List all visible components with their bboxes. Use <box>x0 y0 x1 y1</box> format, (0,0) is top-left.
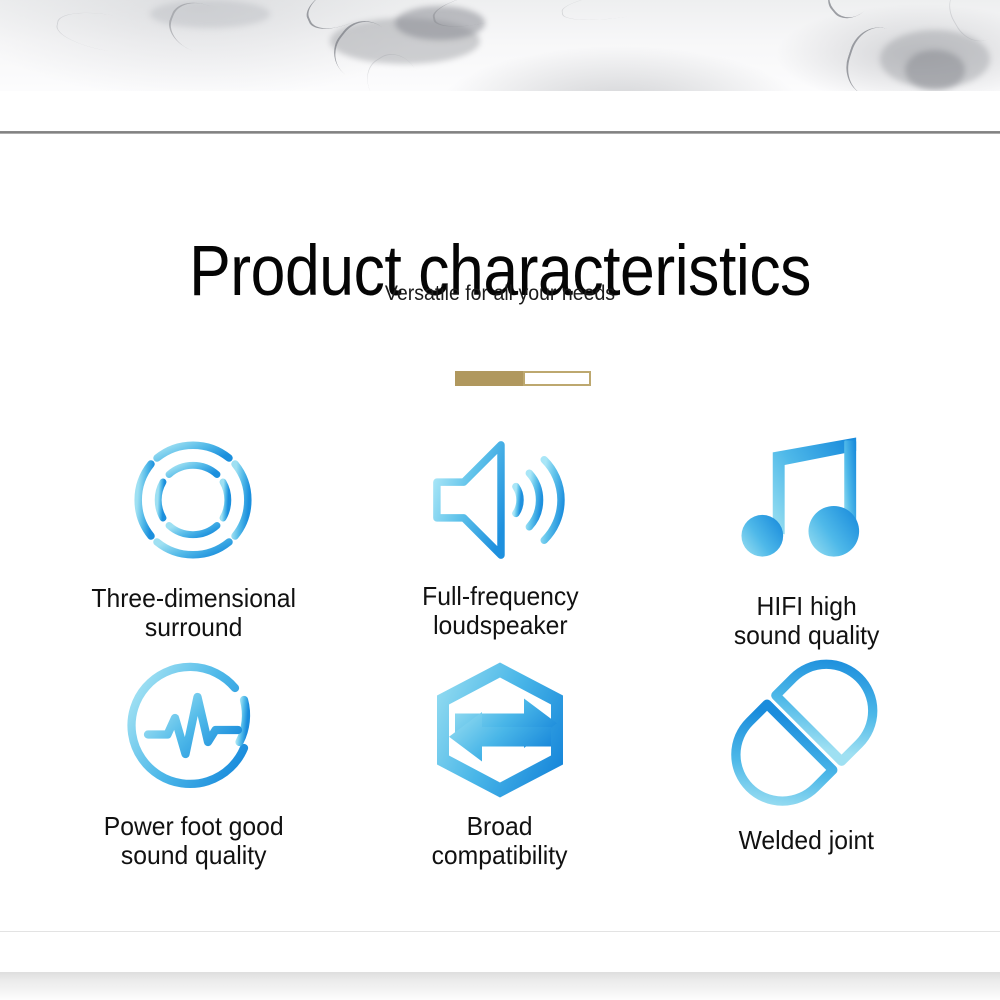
feature-icon-wrap <box>422 420 577 580</box>
divider-filled-segment <box>455 371 523 386</box>
speaker-volume-icon <box>422 425 577 575</box>
feature-item: Power foot good sound quality <box>40 650 347 890</box>
feature-icon-wrap <box>425 650 575 810</box>
feature-label: HIFI high sound quality <box>734 592 880 650</box>
feature-item: Broad compatibility <box>347 650 654 890</box>
feature-icon-wrap <box>118 420 268 580</box>
music-note-icon <box>737 425 877 575</box>
feature-icon-wrap <box>737 420 877 580</box>
hexagon-swap-arrows-icon <box>425 655 575 805</box>
plug-socket-icon <box>729 653 884 808</box>
feature-label: Broad compatibility <box>432 812 568 870</box>
feature-label: Power foot good sound quality <box>103 812 283 870</box>
feature-item: Welded joint <box>653 650 960 890</box>
feature-label: Full-frequency loudspeaker <box>422 582 578 640</box>
feature-item: Three-dimensional surround <box>40 420 347 650</box>
footer-divider-rule <box>0 931 1000 932</box>
page-subtitle: Versatile for all your needs <box>35 280 965 308</box>
marble-blotch <box>905 50 965 90</box>
surround-sound-rings-icon <box>118 425 268 575</box>
divider-empty-segment <box>523 371 591 386</box>
feature-item: Full-frequency loudspeaker <box>347 420 654 650</box>
feature-item: HIFI high sound quality <box>653 420 960 650</box>
feature-icon-wrap <box>118 650 268 810</box>
feature-grid: Three-dimensional surround <box>40 420 960 890</box>
feature-label: Welded joint <box>739 826 874 855</box>
waveform-circle-icon <box>118 655 268 805</box>
gold-progress-divider <box>455 371 591 386</box>
marble-header-band <box>0 0 1000 91</box>
feature-icon-wrap <box>729 650 884 810</box>
feature-label: Three-dimensional surround <box>91 584 296 642</box>
footer-shadow-strip <box>0 972 1000 1000</box>
